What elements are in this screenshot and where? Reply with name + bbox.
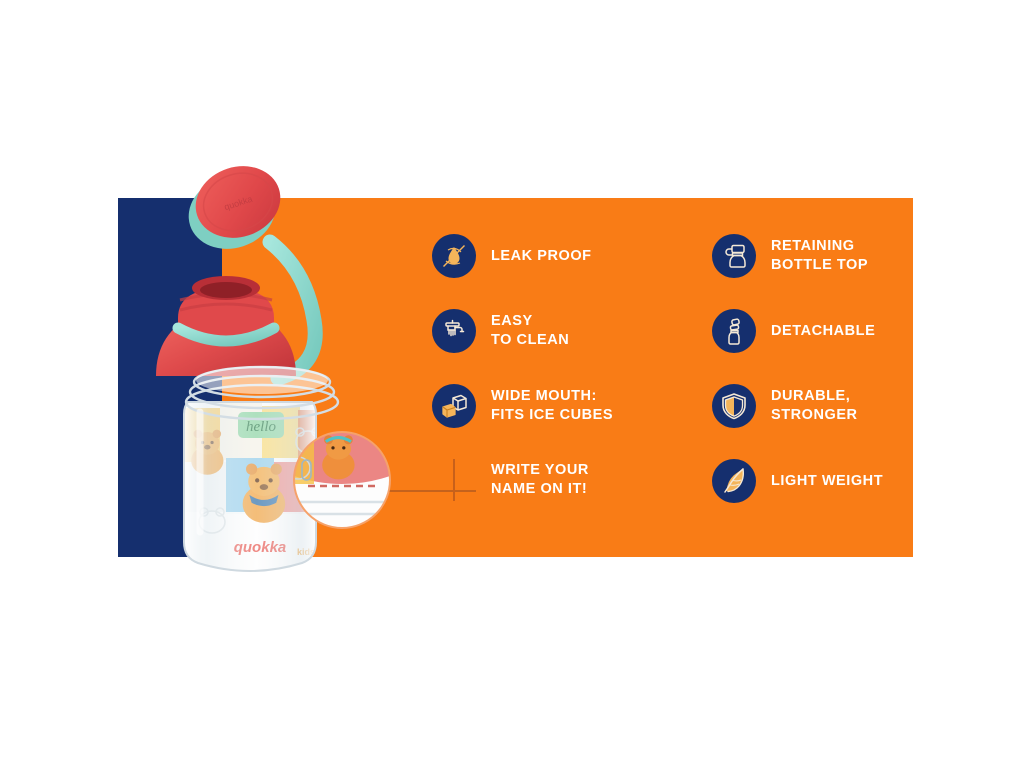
infographic-canvas: quokka	[0, 0, 1024, 768]
red-bottle-cap	[156, 276, 296, 376]
feather-icon	[712, 459, 756, 503]
faucet-icon	[432, 309, 476, 353]
shield-icon	[712, 384, 756, 428]
feature-label: WIDE MOUTH: FITS ICE CUBES	[491, 387, 613, 424]
feature-label: DURABLE, STRONGER	[771, 387, 858, 424]
feature-label: LEAK PROOF	[491, 247, 592, 266]
feature-retaining-bottle-top[interactable]: RETAINING BOTTLE TOP	[712, 234, 868, 278]
feature-light-weight[interactable]: LIGHT WEIGHT	[712, 459, 883, 503]
feature-detachable[interactable]: DETACHABLE	[712, 309, 875, 353]
retaining-bottle-top-icon	[712, 234, 756, 278]
feature-label: DETACHABLE	[771, 322, 875, 341]
ice-cubes-icon	[432, 384, 476, 428]
feature-durable-stronger[interactable]: DURABLE, STRONGER	[712, 384, 858, 428]
feature-label: EASY TO CLEAN	[491, 312, 569, 349]
feature-list: LEAK PROOF EASY TO CLEAN	[432, 234, 902, 524]
feature-easy-to-clean[interactable]: EASY TO CLEAN	[432, 309, 569, 353]
water-drop-no-leak-icon	[432, 234, 476, 278]
detachable-bottle-icon	[712, 309, 756, 353]
tick-marker	[432, 459, 476, 501]
feature-label: RETAINING BOTTLE TOP	[771, 237, 868, 274]
feature-wide-mouth[interactable]: WIDE MOUTH: FITS ICE CUBES	[432, 384, 613, 428]
feature-label: WRITE YOUR NAME ON IT!	[491, 461, 589, 498]
product-image: quokka	[120, 150, 420, 590]
feature-leak-proof[interactable]: LEAK PROOF	[432, 234, 592, 278]
feature-write-your-name[interactable]: WRITE YOUR NAME ON IT!	[432, 459, 589, 501]
feature-label: LIGHT WEIGHT	[771, 472, 883, 491]
